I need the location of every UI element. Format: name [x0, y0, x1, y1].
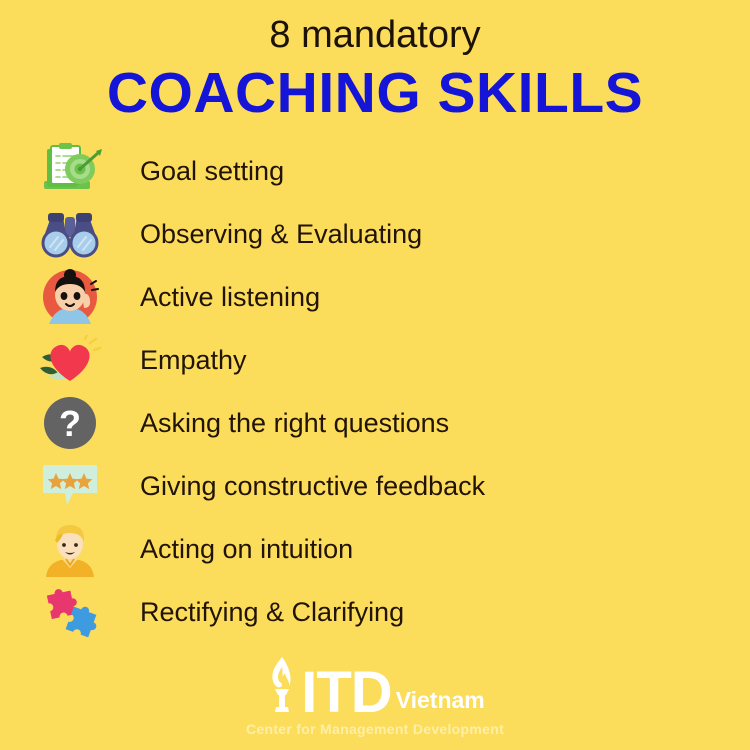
list-item-label: Observing & Evaluating — [140, 221, 422, 248]
binoculars-icon — [0, 203, 140, 266]
list-item-label: Acting on intuition — [140, 536, 353, 563]
logo-tagline: Center for Management Development — [246, 722, 504, 736]
heart-icon — [0, 329, 140, 392]
poster-canvas: 8 mandatory COACHING SKILLS — [0, 0, 750, 750]
poster-header: 8 mandatory COACHING SKILLS — [0, 0, 750, 126]
list-item: Empathy — [0, 329, 750, 392]
list-item-label: Giving constructive feedback — [140, 473, 485, 500]
header-eyebrow: 8 mandatory — [0, 16, 750, 56]
speech-bubble-stars-icon — [0, 455, 140, 518]
list-item-label: Asking the right questions — [140, 410, 449, 437]
clipboard-target-icon — [0, 140, 140, 203]
puzzle-pieces-icon — [0, 581, 140, 644]
list-item-label: Active listening — [140, 284, 320, 311]
page-title: COACHING SKILLS — [0, 62, 750, 126]
question-mark-circle-icon: ? — [0, 392, 140, 455]
person-intuition-icon — [0, 518, 140, 581]
list-item-label: Rectifying & Clarifying — [140, 599, 404, 626]
list-item-label: Empathy — [140, 347, 247, 374]
list-item: Observing & Evaluating — [0, 203, 750, 266]
list-item: Acting on intuition — [0, 518, 750, 581]
torch-icon — [265, 655, 299, 718]
svg-text:?: ? — [59, 403, 81, 444]
listening-person-icon — [0, 266, 140, 329]
list-item-label: Goal setting — [140, 158, 284, 185]
logo-name: ITD — [301, 666, 391, 719]
logo-region: Vietnam — [396, 689, 485, 712]
list-item: Active listening — [0, 266, 750, 329]
list-item: Giving constructive feedback — [0, 455, 750, 518]
list-item: ? Asking the right questions — [0, 392, 750, 455]
list-item: Goal setting — [0, 140, 750, 203]
brand-logo: ITD Vietnam Center for Management Develo… — [0, 655, 750, 736]
skills-list: Goal setting Observin — [0, 140, 750, 644]
logo-wordmark-row: ITD Vietnam — [265, 655, 485, 719]
list-item: Rectifying & Clarifying — [0, 581, 750, 644]
